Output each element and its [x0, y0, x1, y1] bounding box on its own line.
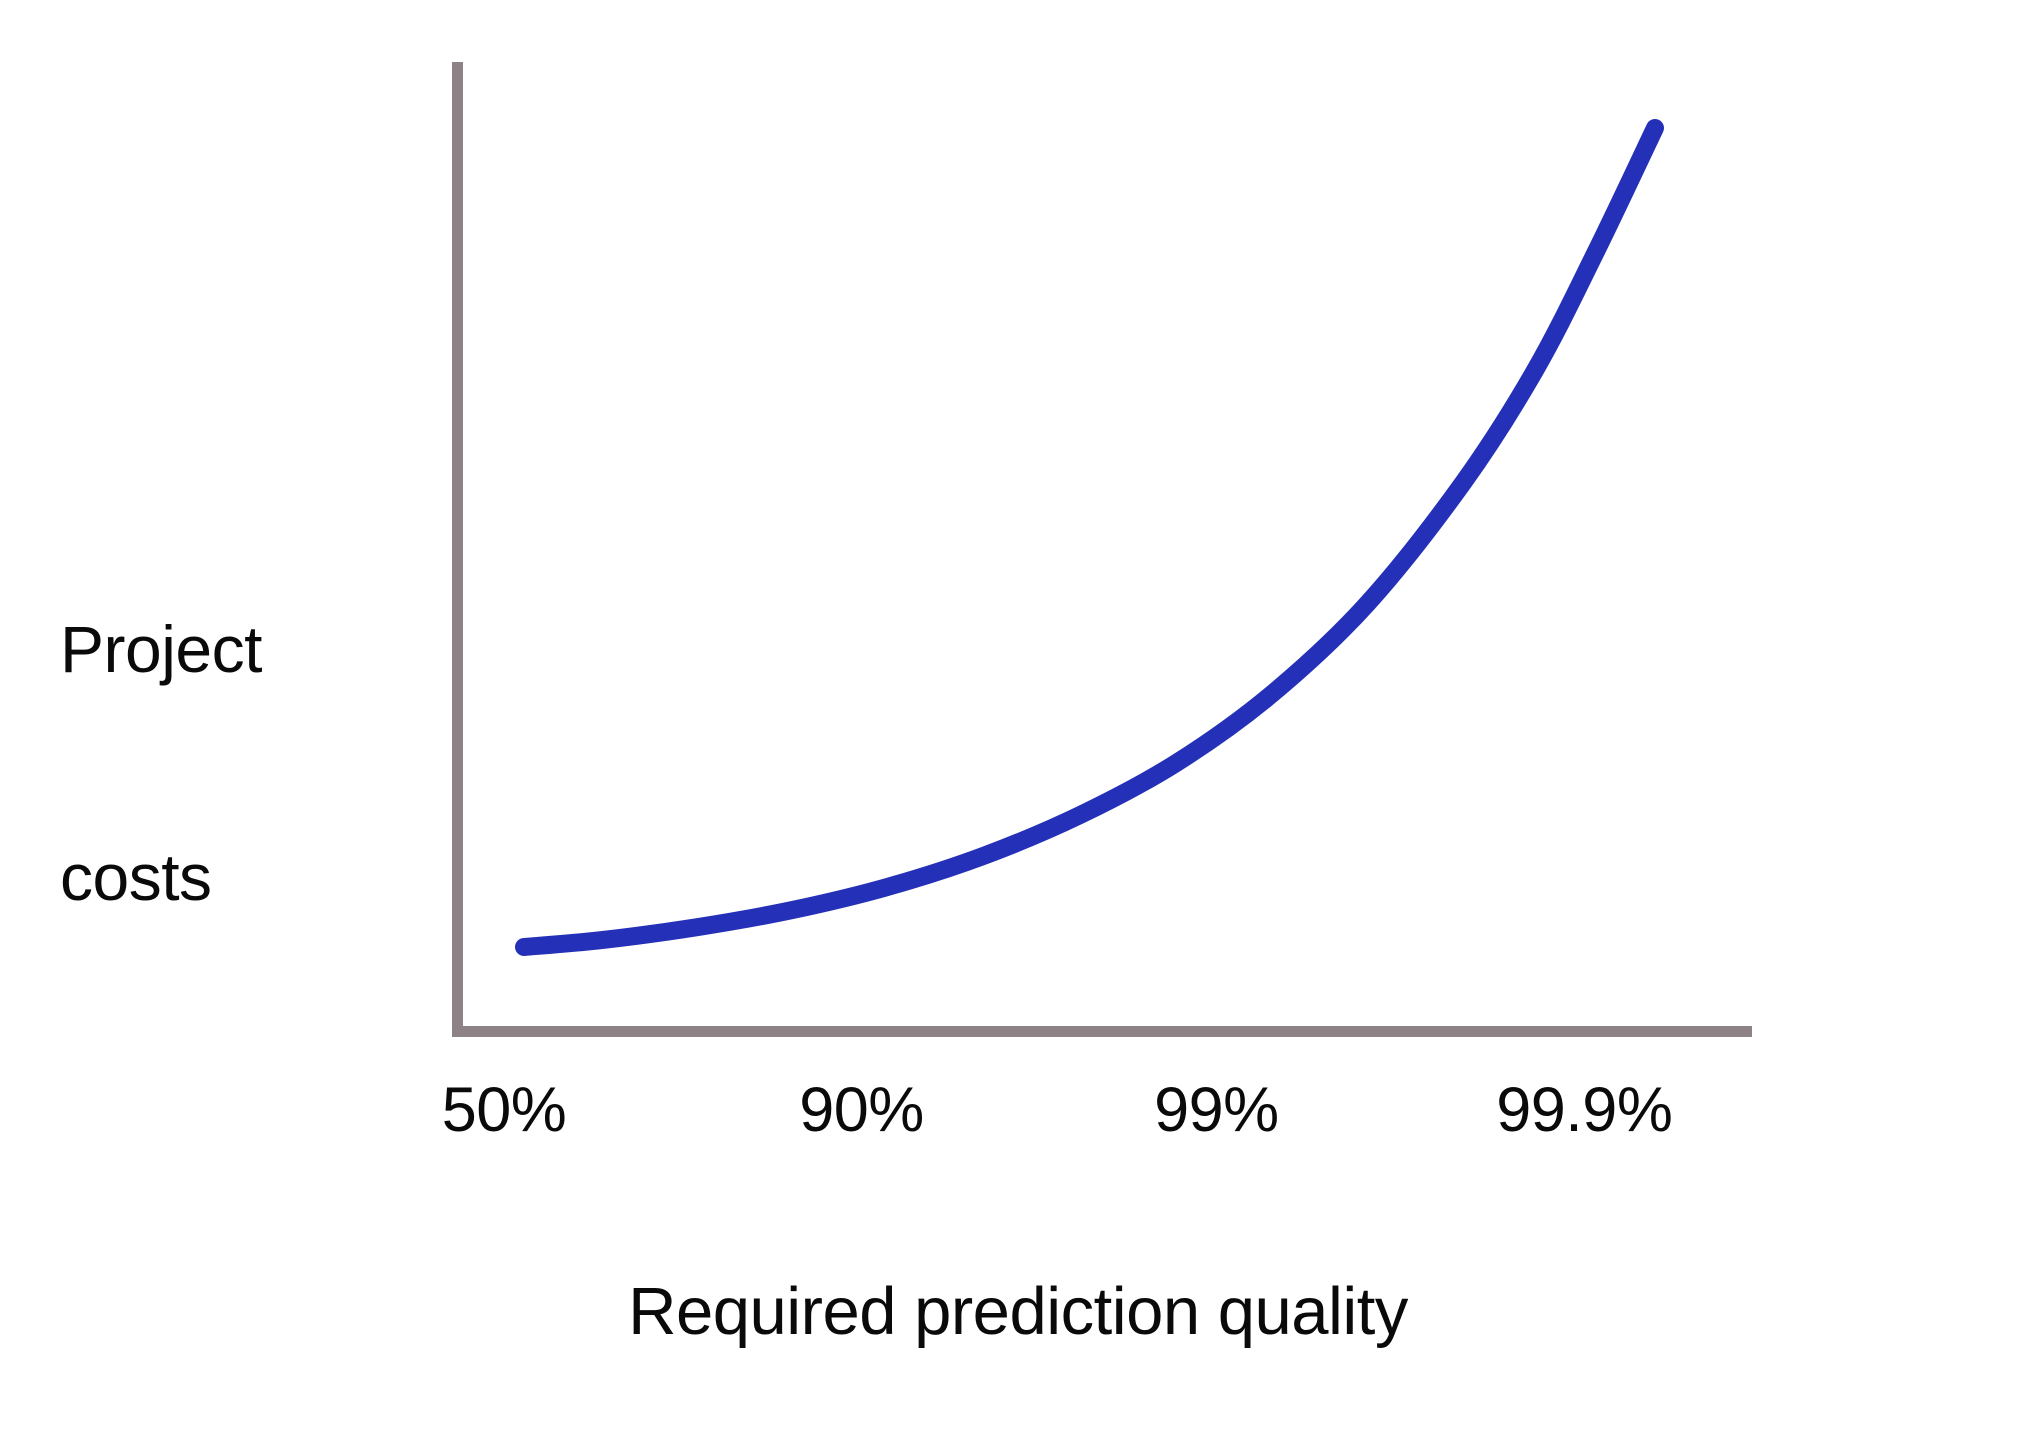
x-axis-title: Required prediction quality [0, 1272, 2036, 1352]
x-tick-label-50: 50% [442, 1073, 567, 1147]
x-tick-label-99: 99% [1154, 1073, 1279, 1147]
x-tick-label-90: 90% [799, 1073, 924, 1147]
plot-area [0, 0, 2036, 1444]
x-tick-labels: 50% 90% 99% 99.9% [452, 1073, 1752, 1153]
cost-curve [524, 128, 1655, 947]
x-tick-label-99-9: 99.9% [1496, 1073, 1672, 1147]
chart-canvas: Project costs 50% 90% 99% 99.9% Required… [0, 0, 2036, 1444]
